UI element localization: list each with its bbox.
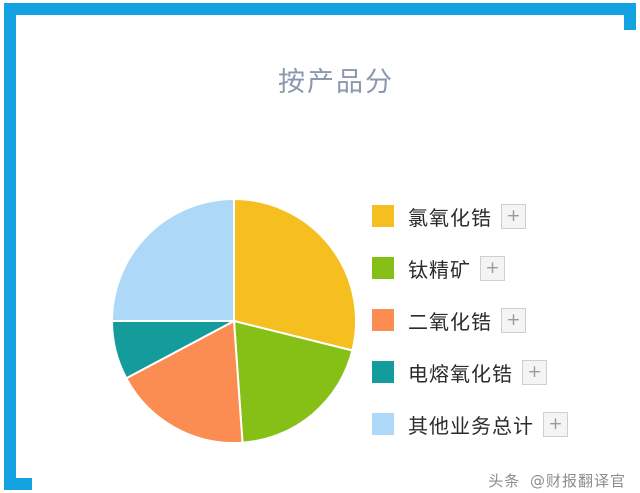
blue-border-frame: 按产品分 氯氧化锆+钛精矿+二氧化锆+电熔氧化锆+其他业务总计+ 头条 @财报翻… bbox=[4, 3, 636, 490]
legend-item-label: 氯氧化锆 bbox=[408, 202, 492, 231]
legend-item-label: 电熔氧化锆 bbox=[408, 358, 513, 387]
legend-expand-plus-icon[interactable]: + bbox=[480, 256, 505, 281]
legend-color-swatch bbox=[372, 361, 394, 383]
legend-item[interactable]: 二氧化锆+ bbox=[372, 294, 632, 346]
legend-item[interactable]: 其他业务总计+ bbox=[372, 398, 632, 450]
legend-item-label: 二氧化锆 bbox=[408, 306, 492, 335]
watermark: 头条 @财报翻译官 bbox=[488, 470, 626, 491]
legend-item[interactable]: 氯氧化锆+ bbox=[372, 190, 632, 242]
legend-color-swatch bbox=[372, 205, 394, 227]
legend-item[interactable]: 电熔氧化锆+ bbox=[372, 346, 632, 398]
pie-slice[interactable] bbox=[112, 199, 234, 321]
legend-color-swatch bbox=[372, 257, 394, 279]
legend-color-swatch bbox=[372, 309, 394, 331]
legend-expand-plus-icon[interactable]: + bbox=[501, 308, 526, 333]
legend-item[interactable]: 钛精矿+ bbox=[372, 242, 632, 294]
legend-item-label: 其他业务总计 bbox=[408, 410, 534, 439]
legend-expand-plus-icon[interactable]: + bbox=[522, 360, 547, 385]
watermark-source: 头条 bbox=[488, 472, 520, 490]
watermark-handle: @财报翻译官 bbox=[530, 472, 626, 490]
screenshot-root: 按产品分 氯氧化锆+钛精矿+二氧化锆+电熔氧化锆+其他业务总计+ 头条 @财报翻… bbox=[0, 0, 640, 493]
legend-expand-plus-icon[interactable]: + bbox=[543, 412, 568, 437]
pie-slice-group bbox=[112, 199, 356, 443]
chart-card: 按产品分 氯氧化锆+钛精矿+二氧化锆+电熔氧化锆+其他业务总计+ 头条 @财报翻… bbox=[32, 30, 640, 493]
pie-chart bbox=[92, 183, 382, 463]
pie-chart-svg bbox=[92, 183, 382, 463]
legend-item-label: 钛精矿 bbox=[408, 254, 471, 283]
page-title: 按产品分 bbox=[32, 60, 640, 99]
legend-color-swatch bbox=[372, 413, 394, 435]
chart-legend: 氯氧化锆+钛精矿+二氧化锆+电熔氧化锆+其他业务总计+ bbox=[372, 190, 632, 450]
legend-expand-plus-icon[interactable]: + bbox=[501, 204, 526, 229]
